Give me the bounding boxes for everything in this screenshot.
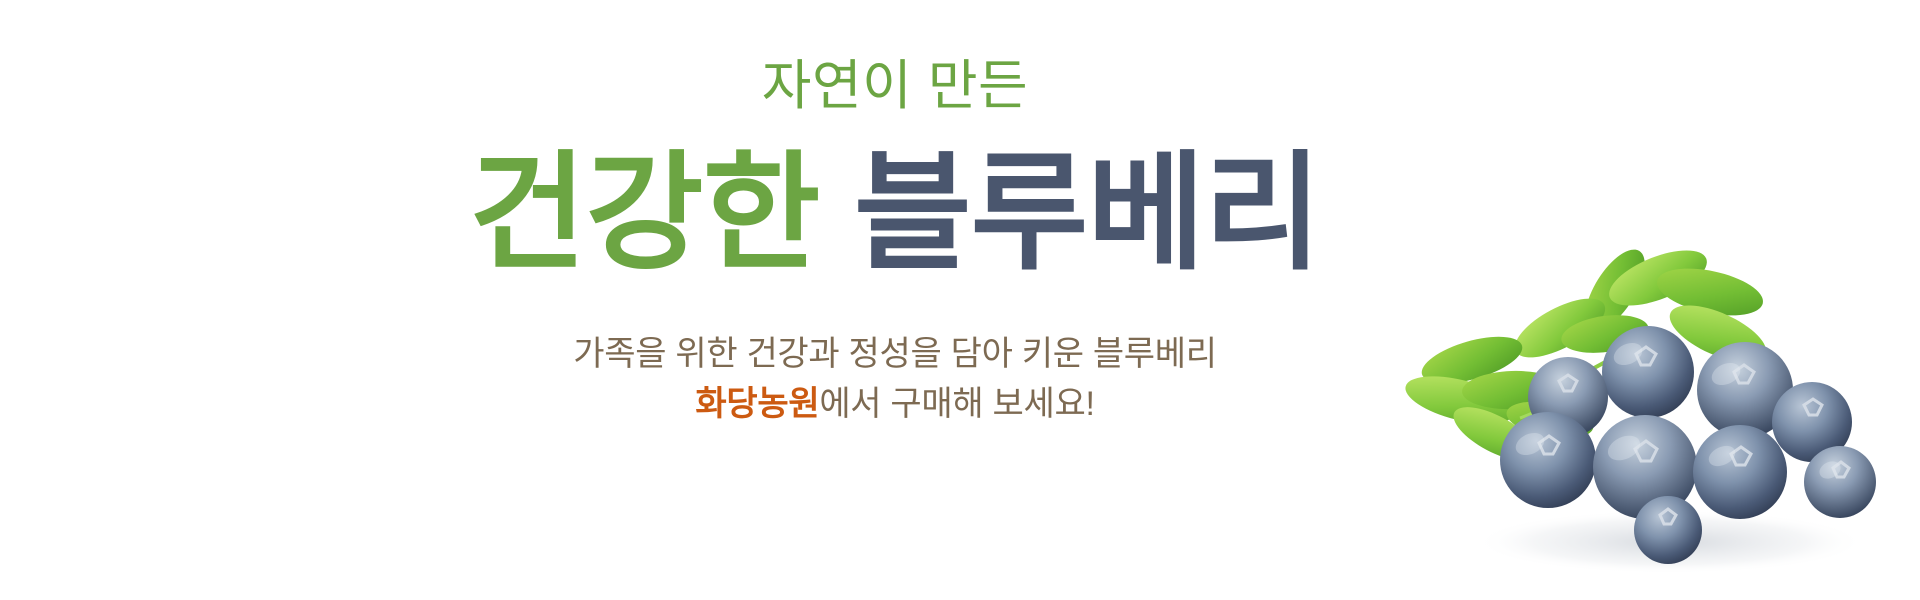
subcopy-line-2-rest: 에서 구매해 보세요! <box>819 385 1094 423</box>
headline-green-part: 건강한 <box>469 142 819 285</box>
banner-subcopy: 가족을 위한 건강과 정성을 담아 키운 블루베리 화당농원에서 구매해 보세요… <box>573 329 1217 430</box>
headline-product-name: 블루베리 <box>854 142 1321 285</box>
brand-name: 화당농원 <box>695 385 819 423</box>
banner-headline: 건강한 블루베리 <box>469 147 1321 281</box>
subcopy-line-1: 가족을 위한 건강과 정성을 담아 키운 블루베리 <box>573 329 1217 379</box>
banner-eyebrow: 자연이 만든 <box>762 58 1028 115</box>
promo-banner: 자연이 만든 건강한 블루베리 가족을 위한 건강과 정성을 담아 키운 블루베… <box>0 0 1920 600</box>
subcopy-line-2: 화당농원에서 구매해 보세요! <box>573 379 1217 429</box>
headline-dark-part <box>819 142 854 285</box>
banner-text-block: 자연이 만든 건강한 블루베리 가족을 위한 건강과 정성을 담아 키운 블루베… <box>0 0 1790 600</box>
